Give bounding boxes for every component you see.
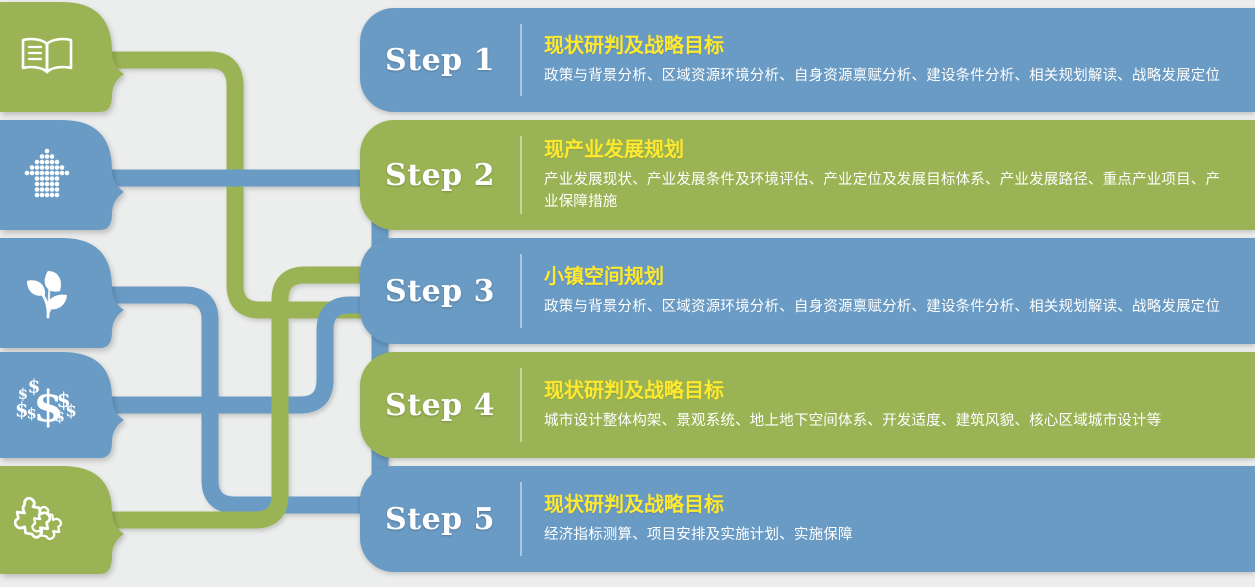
icon-pods	[0, 2, 124, 574]
step-bar-4[interactable]: Step 4 现状研判及战略目标 城市设计整体构架、景观系统、地上地下空间体系、…	[360, 352, 1255, 458]
step-desc-2: 产业发展现状、产业发展条件及环境评估、产业定位及发展目标体系、产业发展路径、重点…	[544, 169, 1229, 214]
step-bar-2[interactable]: Step 2 现产业发展规划 产业发展现状、产业发展条件及环境评估、产业定位及发…	[360, 120, 1255, 230]
pod-shape-4	[0, 352, 124, 458]
step-desc-3: 政策与背景分析、区域资源环境分析、自身资源禀赋分析、建设条件分析、相关规划解读、…	[544, 296, 1229, 318]
step-body-5: 现状研判及战略目标 经济指标测算、项目安排及实施计划、实施保障	[522, 492, 1255, 546]
step-title-2: 现产业发展规划	[544, 137, 1229, 164]
step-label-4: Step 4	[360, 388, 520, 423]
step-desc-5: 经济指标测算、项目安排及实施计划、实施保障	[544, 524, 1229, 546]
step-title-5: 现状研判及战略目标	[544, 492, 1229, 519]
pod-shape-5	[0, 466, 124, 574]
step-title-3: 小镇空间规划	[544, 264, 1229, 291]
step-title-4: 现状研判及战略目标	[544, 378, 1229, 405]
step-title-1: 现状研判及战略目标	[544, 33, 1229, 60]
step-body-1: 现状研判及战略目标 政策与背景分析、区域资源环境分析、自身资源禀赋分析、建设条件…	[522, 33, 1255, 87]
step-bar-1[interactable]: Step 1 现状研判及战略目标 政策与背景分析、区域资源环境分析、自身资源禀赋…	[360, 8, 1255, 112]
pod-shape-1	[0, 2, 124, 112]
step-label-3: Step 3	[360, 274, 520, 309]
step-bar-3[interactable]: Step 3 小镇空间规划 政策与背景分析、区域资源环境分析、自身资源禀赋分析、…	[360, 238, 1255, 344]
infographic-canvas: $ $ $ $ $ $ $ $ Step 1 现状研判及战略目标 政策与背景分析…	[0, 0, 1255, 587]
step-body-3: 小镇空间规划 政策与背景分析、区域资源环境分析、自身资源禀赋分析、建设条件分析、…	[522, 264, 1255, 318]
step-desc-1: 政策与背景分析、区域资源环境分析、自身资源禀赋分析、建设条件分析、相关规划解读、…	[544, 65, 1229, 87]
step-bar-5[interactable]: Step 5 现状研判及战略目标 经济指标测算、项目安排及实施计划、实施保障	[360, 466, 1255, 572]
step-desc-4: 城市设计整体构架、景观系统、地上地下空间体系、开发适度、建筑风貌、核心区域城市设…	[544, 410, 1229, 432]
step-label-2: Step 2	[360, 158, 520, 193]
pod-shape-3	[0, 238, 124, 348]
step-body-2: 现产业发展规划 产业发展现状、产业发展条件及环境评估、产业定位及发展目标体系、产…	[522, 137, 1255, 214]
step-body-4: 现状研判及战略目标 城市设计整体构架、景观系统、地上地下空间体系、开发适度、建筑…	[522, 378, 1255, 432]
step-label-1: Step 1	[360, 43, 520, 78]
pod-shape-2	[0, 120, 124, 230]
step-label-5: Step 5	[360, 502, 520, 537]
